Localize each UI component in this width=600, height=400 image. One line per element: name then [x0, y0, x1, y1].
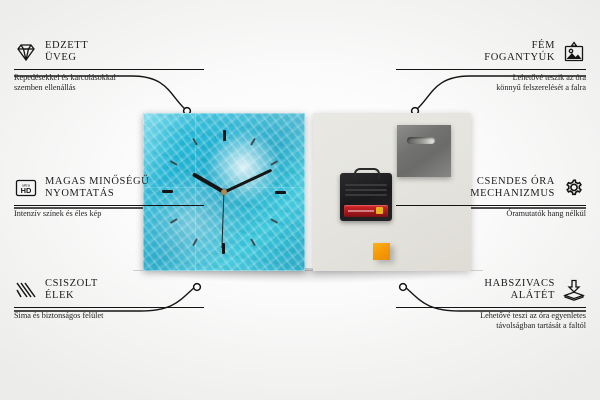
- feature-desc-line2: távolságban tartását a faltól: [496, 321, 586, 330]
- divider: [396, 205, 586, 206]
- feature-desc-line1: Repedésekkel és karcolásokkal: [14, 73, 116, 82]
- picture-hanger-icon: [562, 40, 586, 64]
- divider: [396, 69, 586, 70]
- feature-title-line1: HABSZIVACS: [484, 278, 555, 289]
- divider: [396, 307, 586, 308]
- feature-desc-line1: Sima és biztonságos felület: [14, 311, 103, 320]
- feature-tempered-glass: EDZETT ÜVEG Repedésekkel és karcolásokka…: [14, 40, 204, 94]
- feature-title-line1: CSENDES ÓRA: [477, 176, 555, 187]
- feature-desc-line1: Óramutatók hang nélkül: [506, 209, 586, 218]
- infographic-stage: EDZETT ÜVEG Repedésekkel és karcolásokka…: [0, 0, 600, 400]
- feature-desc-line1: Lehetővé teszik az óra: [513, 73, 586, 82]
- svg-text:HD: HD: [21, 186, 32, 195]
- feature-desc-line2: szemben ellenállás: [14, 83, 76, 92]
- mechanism-loop: [354, 168, 380, 179]
- feature-title-line2: NYOMTATÁS: [45, 188, 114, 199]
- ultra-hd-icon: ultra HD: [14, 176, 38, 200]
- feature-desc-line1: Lehetővé teszi az óra egyenletes: [480, 311, 586, 320]
- feature-title-line2: ÜVEG: [45, 52, 77, 63]
- feature-title-line1: EDZETT: [45, 40, 88, 51]
- divider: [14, 307, 204, 308]
- feature-desc-line2: könnyű felszerelését a falra: [496, 83, 586, 92]
- feature-title-line1: CSISZOLT: [45, 278, 98, 289]
- clock-mechanism: [340, 173, 392, 221]
- diamond-icon: [14, 40, 38, 64]
- metal-hanger-plate: [397, 125, 451, 177]
- hanger-slot: [407, 137, 435, 144]
- feature-title-line2: MECHANIZMUS: [470, 188, 555, 199]
- feature-high-quality-print: ultra HD MAGAS MINŐSÉGŰ NYOMTATÁS Intenz…: [14, 176, 204, 219]
- feature-title-line1: FÉM: [532, 40, 555, 51]
- feature-title-line2: FOGANTYÚK: [484, 52, 555, 63]
- feature-foam-pad: HABSZIVACS ALÁTÉT Lehetővé teszi az óra …: [396, 278, 586, 332]
- battery: [344, 205, 388, 217]
- feature-quiet-mechanism: CSENDES ÓRA MECHANIZMUS Óramutatók hang …: [396, 176, 586, 219]
- divider: [14, 69, 204, 70]
- feature-title-line2: ALÁTÉT: [511, 290, 555, 301]
- gear-icon: [562, 176, 586, 200]
- feature-title-line1: MAGAS MINŐSÉGŰ: [45, 176, 149, 187]
- feature-desc-line1: Intenzív színek és éles kép: [14, 209, 101, 218]
- feature-title-line2: ÉLEK: [45, 290, 74, 301]
- foam-spacer-pad: [373, 243, 390, 260]
- feature-polished-edges: CSISZOLT ÉLEK Sima és biztonságos felüle…: [14, 278, 204, 321]
- press-down-icon: [562, 278, 586, 302]
- polished-edges-icon: [14, 278, 38, 302]
- feature-metal-handles: FÉM FOGANTYÚK Lehetővé teszik az óra kön…: [396, 40, 586, 94]
- divider: [14, 205, 204, 206]
